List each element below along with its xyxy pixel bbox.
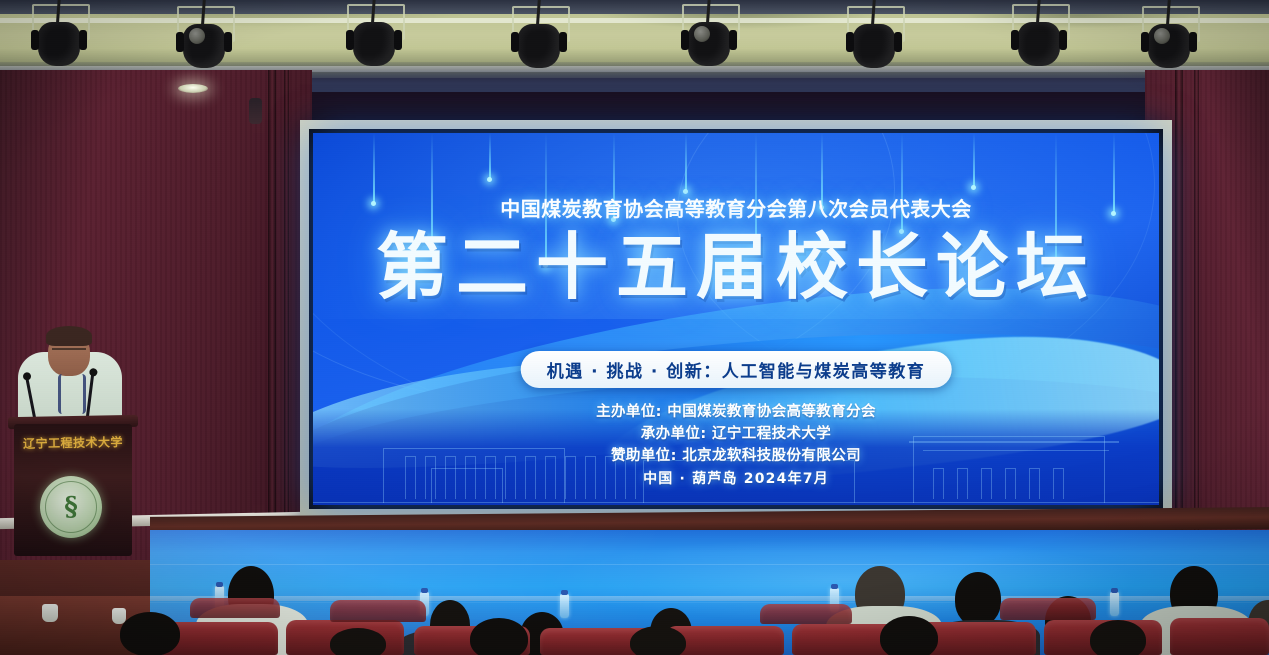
led-screen: 中国煤炭教育协会高等教育分会第八次会员代表大会 第二十五届校长论坛 机遇 · 挑… xyxy=(313,133,1159,505)
light-streak xyxy=(489,133,491,179)
stage-spotlight xyxy=(345,4,403,66)
audience-head xyxy=(955,572,1001,626)
audience-head xyxy=(630,626,686,655)
architecture-line xyxy=(313,502,1159,504)
stage-spotlight xyxy=(30,4,88,66)
water-bottle xyxy=(1110,592,1119,616)
stage-spotlight xyxy=(510,6,568,68)
wall-pilaster-right-b xyxy=(1194,70,1199,567)
screen-subtitle-pill: 机遇 · 挑战 · 创新：人工智能与煤炭高等教育 xyxy=(521,351,952,388)
organizer-line: 承办单位: 辽宁工程技术大学 xyxy=(313,423,1159,445)
podium-label: 辽宁工程技术大学 xyxy=(14,433,132,452)
speaker-glasses xyxy=(52,348,86,357)
auditorium-seat xyxy=(330,600,426,622)
conference-hall-photo: 中国煤炭教育协会高等教育分会第八次会员代表大会 第二十五届校长论坛 机遇 · 挑… xyxy=(0,0,1269,655)
wall-pilaster-left-b xyxy=(284,70,289,567)
tea-cup xyxy=(42,604,58,622)
stage-spotlight xyxy=(680,4,738,66)
audience-head xyxy=(880,616,938,655)
organizer-line: 赞助单位: 北京龙软科技股份有限公司 xyxy=(313,445,1159,467)
speaker-hair xyxy=(46,326,92,346)
light-streak xyxy=(973,133,975,187)
stage-spotlight xyxy=(1010,4,1068,66)
stage-ledge xyxy=(150,596,1269,601)
wall-pilaster-left-a xyxy=(268,70,276,567)
screen-organizers: 主办单位: 中国煤炭教育协会高等教育分会 承办单位: 辽宁工程技术大学 赞助单位… xyxy=(313,401,1159,467)
emblem-glyph: § xyxy=(64,492,78,522)
screen-main-title: 第二十五届校长论坛 xyxy=(313,225,1159,310)
screen-place-date: 中国 · 葫芦岛 2024年7月 xyxy=(313,468,1159,488)
audience-head xyxy=(120,612,180,655)
speaker-lanyard xyxy=(58,374,86,414)
auditorium-seat xyxy=(190,598,280,618)
auditorium-seat xyxy=(1170,618,1269,655)
organizer-line: 主办单位: 中国煤炭教育协会高等教育分会 xyxy=(313,401,1159,423)
screen-header-text: 中国煤炭教育协会高等教育分会第八次会员代表大会 xyxy=(313,193,1159,222)
auditorium-seat xyxy=(1000,598,1096,620)
water-bottle xyxy=(560,594,569,618)
audience-head xyxy=(330,628,386,655)
stage-spotlight xyxy=(845,6,903,68)
stage-spotlight xyxy=(175,6,233,68)
recessed-ceiling-light xyxy=(178,84,208,93)
wall-pilaster-right-a xyxy=(1175,70,1183,567)
university-emblem: § xyxy=(40,476,102,538)
audience-head xyxy=(1090,620,1146,655)
auditorium-seat xyxy=(760,604,852,624)
led-screen-frame: 中国煤炭教育协会高等教育分会第八次会员代表大会 第二十五届校长论坛 机遇 · 挑… xyxy=(300,120,1172,518)
stage-spotlight xyxy=(1140,6,1198,68)
audience-head xyxy=(470,618,528,655)
wall-speaker xyxy=(249,98,262,124)
screen-subtitle-text: 机遇 · 挑战 · 创新：人工智能与煤炭高等教育 xyxy=(547,362,926,382)
light-streak xyxy=(685,133,687,191)
